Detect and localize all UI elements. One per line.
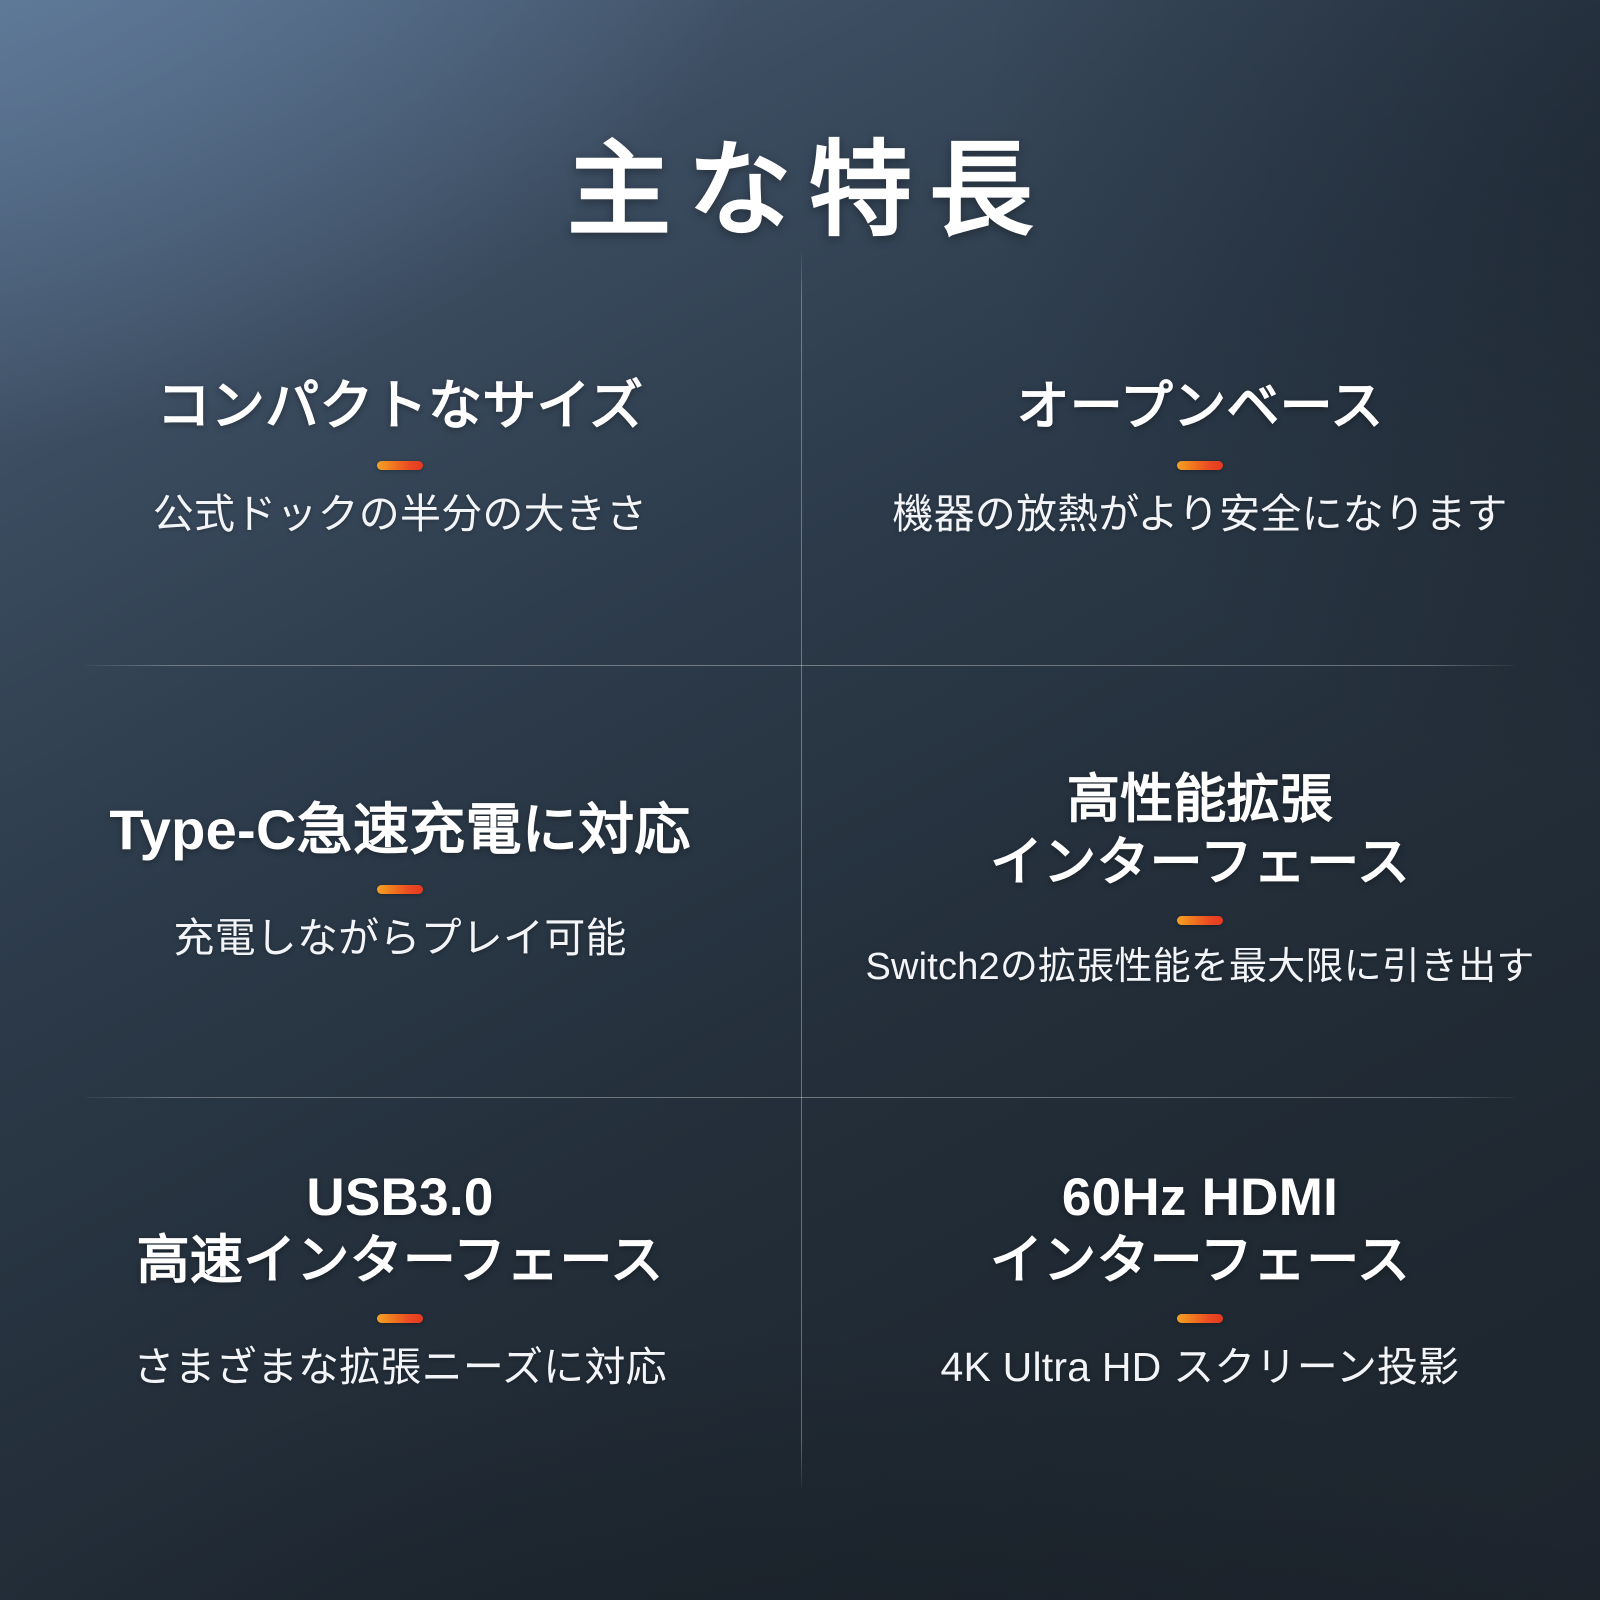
feature-subtitle: 公式ドックの半分の大きさ xyxy=(153,488,647,541)
accent-divider xyxy=(1177,461,1223,470)
feature-subtitle: 4K Ultra HD スクリーン投影 xyxy=(941,1341,1460,1394)
feature-title: Type-C急速充電に対応 xyxy=(109,797,690,863)
feature-title: USB3.0 高速インターフェース xyxy=(137,1167,664,1292)
feature-grid: コンパクトなサイズ 公式ドックの半分の大きさ オープンベース 機器の放熱がより安… xyxy=(0,0,1600,1600)
feature-title: コンパクトなサイズ xyxy=(157,375,644,439)
feature-subtitle: 充電しながらプレイ可能 xyxy=(173,912,626,965)
feature-subtitle: Switch2の拡張性能を最大限に引き出す xyxy=(865,943,1534,992)
accent-divider xyxy=(377,1314,423,1323)
feature-cell-usb3: USB3.0 高速インターフェース さまざまな拡張ニーズに対応 xyxy=(0,1097,800,1600)
feature-cell-hdmi: 60Hz HDMI インターフェース 4K Ultra HD スクリーン投影 xyxy=(800,1097,1600,1600)
accent-divider xyxy=(377,461,423,470)
feature-highlights-page: 主な特長 コンパクトなサイズ 公式ドックの半分の大きさ オープンベース 機器の放… xyxy=(0,0,1600,1600)
accent-divider xyxy=(1177,916,1223,925)
feature-cell-open-base: オープンベース 機器の放熱がより安全になります xyxy=(800,252,1600,665)
accent-divider xyxy=(377,885,423,894)
feature-subtitle: さまざまな拡張ニーズに対応 xyxy=(133,1341,667,1394)
feature-title: 高性能拡張 インターフェース xyxy=(990,769,1410,894)
feature-title: 60Hz HDMI インターフェース xyxy=(990,1167,1410,1292)
accent-divider xyxy=(1177,1314,1223,1323)
feature-subtitle: 機器の放熱がより安全になります xyxy=(892,488,1507,541)
feature-cell-compact-size: コンパクトなサイズ 公式ドックの半分の大きさ xyxy=(0,252,800,665)
feature-cell-type-c-fast-charge: Type-C急速充電に対応 充電しながらプレイ可能 xyxy=(0,665,800,1097)
feature-title: オープンベース xyxy=(1016,376,1383,439)
feature-cell-high-performance-interface: 高性能拡張 インターフェース Switch2の拡張性能を最大限に引き出す xyxy=(800,665,1600,1097)
